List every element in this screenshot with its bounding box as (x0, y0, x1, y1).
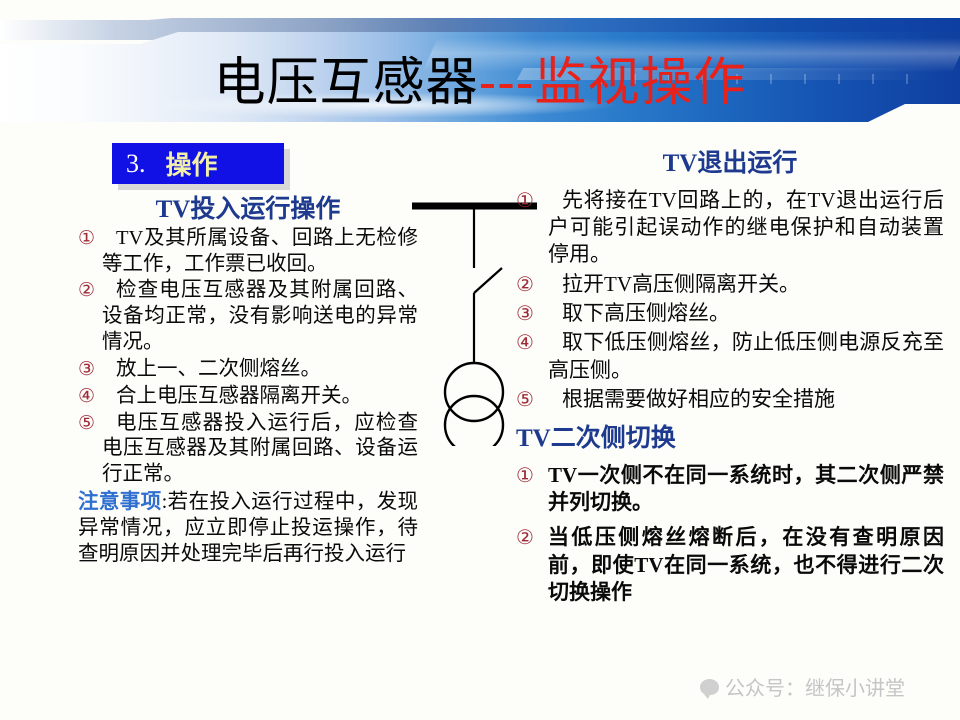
list-marker-5: ⑤ (78, 411, 102, 436)
rb-list-text-1: TV一次侧不在同一系统时，其二次侧严禁并列切换。 (548, 462, 944, 517)
rt-list-text-5: 根据需要做好相应的安全措施 (548, 386, 944, 413)
list-marker-1: ① (78, 226, 102, 251)
list-item: ④ 取下低压侧熔丝，防止低压侧电源反充至高压侧。 (516, 329, 944, 384)
list-item: ② 拉开TV高压侧隔离开关。 (516, 271, 944, 298)
list-marker-3: ③ (78, 357, 102, 382)
list-text-3: 放上一、二次侧熔丝。 (102, 357, 418, 383)
left-column-heading: TV投入运行操作 (78, 196, 418, 225)
list-item: ① TV一次侧不在同一系统时，其二次侧严禁并列切换。 (516, 462, 944, 517)
list-item: ③ 取下高压侧熔丝。 (516, 300, 944, 327)
section-badge: 3. 操作 (112, 143, 284, 184)
list-item: ② 检查电压互感器及其附属回路、设备均正常，没有影响送电的异常情况。 (78, 278, 418, 355)
rt-list-text-2: 拉开TV高压侧隔离开关。 (548, 271, 944, 298)
note-label: 注意事项 (78, 491, 162, 513)
watermark: 公众号：继保小讲堂 (700, 672, 905, 701)
rt-list-text-3: 取下高压侧熔丝。 (548, 300, 944, 327)
left-column-note: 注意事项:若在投入运行过程中，发现异常情况，应立即停止投运操作，待查明原因并处理… (78, 490, 418, 567)
left-column: TV投入运行操作 ① TV及其所属设备、回路上无检修等工作，工作票已收回。 ② … (78, 196, 418, 568)
page-title-main: 电压互感器 (214, 40, 479, 115)
list-marker-4: ④ (78, 384, 102, 409)
list-item: ③ 放上一、二次侧熔丝。 (78, 357, 418, 383)
list-text-1: TV及其所属设备、回路上无检修等工作，工作票已收回。 (102, 226, 418, 278)
rt-list-marker-4: ④ (516, 329, 548, 356)
list-item: ⑤ 根据需要做好相应的安全措施 (516, 386, 944, 413)
right-column-top-heading: TV退出运行 (516, 150, 944, 179)
list-item: ① 先将接在TV回路上的，在TV退出运行后户可能引起误动作的继电保护和自动装置停… (516, 187, 944, 269)
list-marker-2: ② (78, 278, 102, 303)
transformer-primary-winding (445, 363, 503, 421)
rb-list-marker-2: ② (516, 524, 548, 551)
section-badge-number: 3. (126, 149, 146, 179)
rb-list-text-2: 当低压侧熔丝熔断后，在没有查明原因前，即使TV在同一系统，也不得进行二次切换操作 (548, 524, 944, 606)
section-badge-box: 3. 操作 (112, 143, 284, 184)
list-item: ① TV及其所属设备、回路上无检修等工作，工作票已收回。 (78, 226, 418, 278)
rt-list-marker-1: ① (516, 187, 548, 214)
watermark-text: 公众号：继保小讲堂 (725, 672, 905, 701)
rb-list-marker-1: ① (516, 462, 548, 489)
list-text-4: 合上电压互感器隔离开关。 (102, 384, 418, 410)
rt-list-text-1: 先将接在TV回路上的，在TV退出运行后户可能引起误动作的继电保护和自动装置停用。 (548, 187, 944, 269)
list-text-5: 电压互感器投入运行后，应检查电压互感器及其附属回路、设备运行正常。 (102, 411, 418, 488)
right-column-bottom-heading: TV二次侧切换 (516, 425, 944, 454)
title-banner: 电压互感器---监视操作 (0, 18, 960, 122)
section-badge-label: 操作 (166, 145, 218, 182)
wechat-bubble-icon (700, 679, 719, 695)
spacer (516, 413, 944, 425)
rt-list-marker-5: ⑤ (516, 386, 548, 413)
list-item: ⑤ 电压互感器投入运行后，应检查电压互感器及其附属回路、设备运行正常。 (78, 411, 418, 488)
rt-list-marker-3: ③ (516, 300, 548, 327)
slide-canvas: 电压互感器---监视操作 3. 操作 TV投入运行操作 ① TV及其所属设备、回… (0, 0, 960, 720)
spacer (516, 179, 944, 185)
list-text-2: 检查电压互感器及其附属回路、设备均正常，没有影响送电的异常情况。 (102, 278, 418, 355)
right-column: TV退出运行 ① 先将接在TV回路上的，在TV退出运行后户可能引起误动作的继电保… (516, 150, 944, 606)
disconnect-switch-blade (474, 268, 502, 293)
page-title-accent: ---监视操作 (479, 40, 747, 115)
list-item: ② 当低压侧熔丝熔断后，在没有查明原因前，即使TV在同一系统，也不得进行二次切换… (516, 524, 944, 606)
page-title: 电压互感器---监视操作 (0, 32, 960, 122)
spacer (516, 516, 944, 522)
list-item: ④ 合上电压互感器隔离开关。 (78, 384, 418, 410)
rt-list-text-4: 取下低压侧熔丝，防止低压侧电源反充至高压侧。 (548, 329, 944, 384)
rt-list-marker-2: ② (516, 271, 548, 298)
spacer (516, 454, 944, 460)
